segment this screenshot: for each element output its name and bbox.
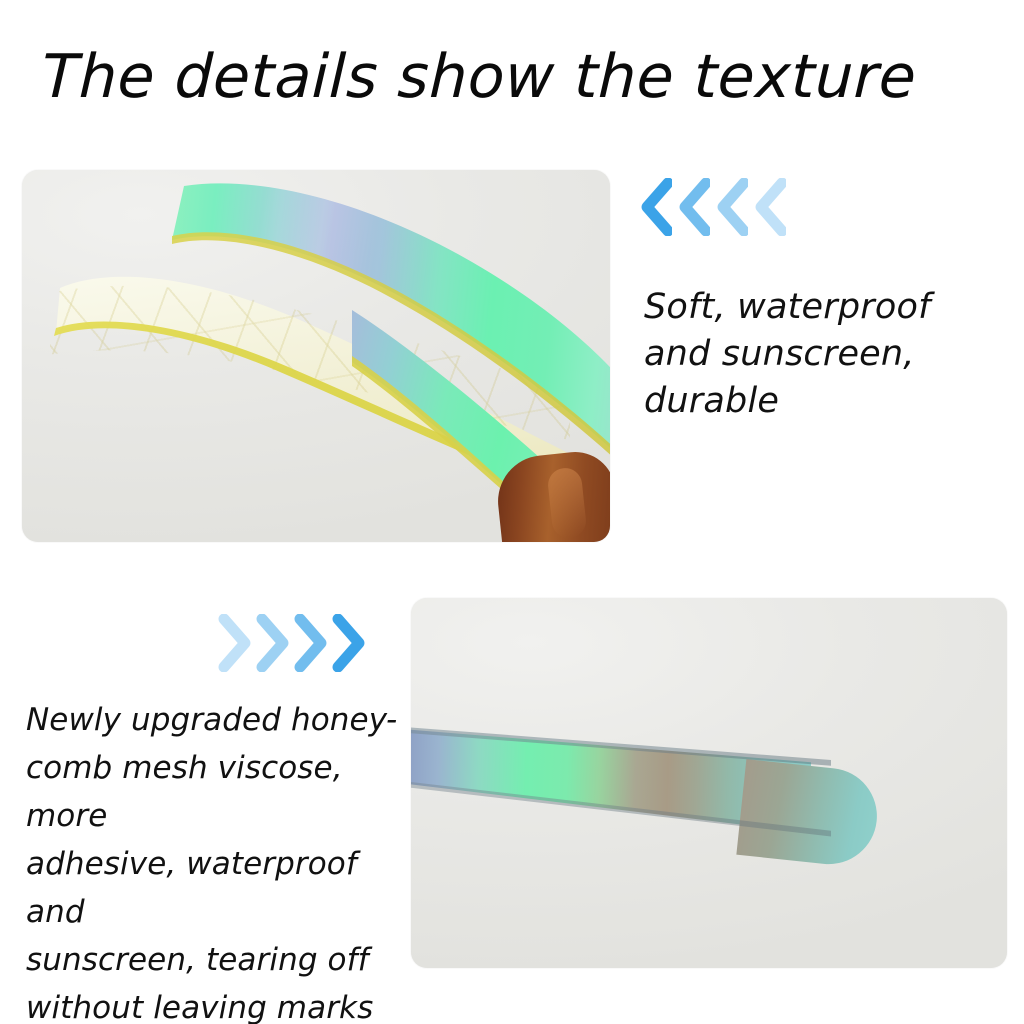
tape-strip-rounded-tip	[736, 759, 881, 869]
product-feature-graphic: The details show the texture	[0, 0, 1024, 1024]
chevron-right-icon	[294, 614, 328, 672]
chevron-left-icon	[752, 178, 786, 236]
feature-caption-honeycomb-mesh: Newly upgraded honey- comb mesh viscose,…	[26, 696, 406, 1024]
chevron-left-arrow-group	[638, 178, 790, 236]
chevron-left-icon	[638, 178, 672, 236]
chevron-right-arrow-group	[218, 614, 370, 672]
chevron-left-icon	[714, 178, 748, 236]
holographic-tape-loop-photo	[22, 170, 610, 542]
chevron-left-icon	[676, 178, 710, 236]
page-title: The details show the texture	[41, 40, 994, 114]
holographic-tape-strip-photo	[411, 598, 1007, 968]
feature-caption-soft-waterproof: Soft, waterproof and sunscreen, durable	[644, 284, 1004, 425]
chevron-right-icon	[218, 614, 252, 672]
chevron-right-icon	[332, 614, 366, 672]
chevron-right-icon	[256, 614, 290, 672]
tape-strip	[411, 724, 866, 840]
